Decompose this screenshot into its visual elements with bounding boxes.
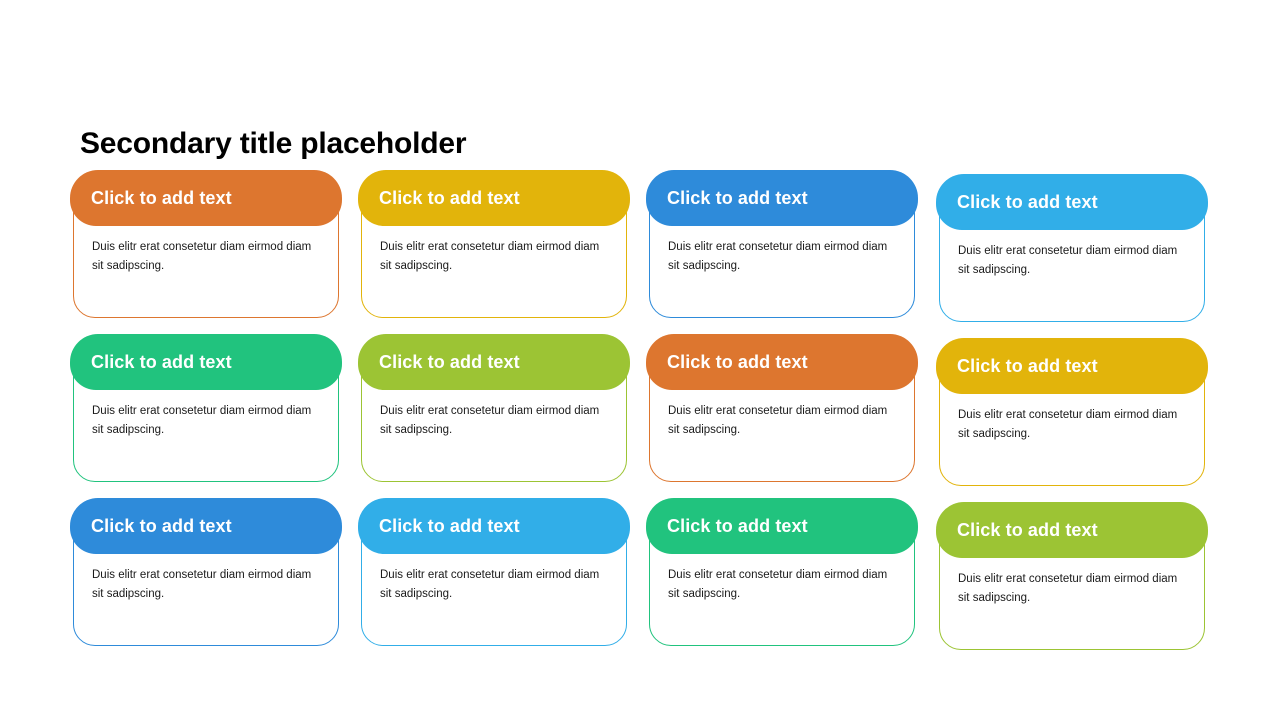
card-header[interactable]: Click to add text <box>70 498 342 554</box>
card[interactable]: Click to add text Duis elitr erat conset… <box>936 174 1208 322</box>
card-row: Click to add text Duis elitr erat conset… <box>70 170 1220 334</box>
card[interactable]: Click to add text Duis elitr erat conset… <box>646 498 918 646</box>
card-header-label: Click to add text <box>70 516 232 537</box>
card-header[interactable]: Click to add text <box>936 338 1208 394</box>
card-body-text[interactable]: Duis elitr erat consetetur diam eirmod d… <box>668 402 896 439</box>
card-header-label: Click to add text <box>358 188 520 209</box>
card-header[interactable]: Click to add text <box>646 498 918 554</box>
card-header[interactable]: Click to add text <box>358 498 630 554</box>
card[interactable]: Click to add text Duis elitr erat conset… <box>70 170 342 318</box>
card-row: Click to add text Duis elitr erat conset… <box>70 334 1220 498</box>
card[interactable]: Click to add text Duis elitr erat conset… <box>936 502 1208 650</box>
slide-canvas: Secondary title placeholder Click to add… <box>0 0 1280 720</box>
card-body-text[interactable]: Duis elitr erat consetetur diam eirmod d… <box>668 238 896 275</box>
card-header[interactable]: Click to add text <box>646 170 918 226</box>
card-header[interactable]: Click to add text <box>646 334 918 390</box>
card-header-label: Click to add text <box>358 516 520 537</box>
card[interactable]: Click to add text Duis elitr erat conset… <box>70 334 342 482</box>
card-body-text[interactable]: Duis elitr erat consetetur diam eirmod d… <box>958 242 1186 279</box>
page-title[interactable]: Secondary title placeholder <box>80 126 466 162</box>
card-body-text[interactable]: Duis elitr erat consetetur diam eirmod d… <box>380 238 608 275</box>
card-header[interactable]: Click to add text <box>358 170 630 226</box>
card-header-label: Click to add text <box>358 352 520 373</box>
card-header-label: Click to add text <box>70 352 232 373</box>
card-header-label: Click to add text <box>936 520 1098 541</box>
card-body-text[interactable]: Duis elitr erat consetetur diam eirmod d… <box>958 406 1186 443</box>
card-body-text[interactable]: Duis elitr erat consetetur diam eirmod d… <box>92 238 320 275</box>
card-header-label: Click to add text <box>936 356 1098 377</box>
card[interactable]: Click to add text Duis elitr erat conset… <box>646 334 918 482</box>
card-row: Click to add text Duis elitr erat conset… <box>70 498 1220 662</box>
card-body-text[interactable]: Duis elitr erat consetetur diam eirmod d… <box>92 566 320 603</box>
card[interactable]: Click to add text Duis elitr erat conset… <box>358 498 630 646</box>
card-header[interactable]: Click to add text <box>358 334 630 390</box>
card[interactable]: Click to add text Duis elitr erat conset… <box>358 334 630 482</box>
card-header[interactable]: Click to add text <box>70 170 342 226</box>
card-header-label: Click to add text <box>936 192 1098 213</box>
card-grid: Click to add text Duis elitr erat conset… <box>70 170 1220 662</box>
card[interactable]: Click to add text Duis elitr erat conset… <box>358 170 630 318</box>
card[interactable]: Click to add text Duis elitr erat conset… <box>646 170 918 318</box>
card-body-text[interactable]: Duis elitr erat consetetur diam eirmod d… <box>668 566 896 603</box>
card-body-text[interactable]: Duis elitr erat consetetur diam eirmod d… <box>958 570 1186 607</box>
card-body-text[interactable]: Duis elitr erat consetetur diam eirmod d… <box>92 402 320 439</box>
card-header-label: Click to add text <box>646 516 808 537</box>
card[interactable]: Click to add text Duis elitr erat conset… <box>936 338 1208 486</box>
card-header[interactable]: Click to add text <box>936 502 1208 558</box>
card[interactable]: Click to add text Duis elitr erat conset… <box>70 498 342 646</box>
card-header-label: Click to add text <box>70 188 232 209</box>
card-header-label: Click to add text <box>646 352 808 373</box>
card-header[interactable]: Click to add text <box>70 334 342 390</box>
card-header[interactable]: Click to add text <box>936 174 1208 230</box>
card-body-text[interactable]: Duis elitr erat consetetur diam eirmod d… <box>380 402 608 439</box>
card-header-label: Click to add text <box>646 188 808 209</box>
card-body-text[interactable]: Duis elitr erat consetetur diam eirmod d… <box>380 566 608 603</box>
